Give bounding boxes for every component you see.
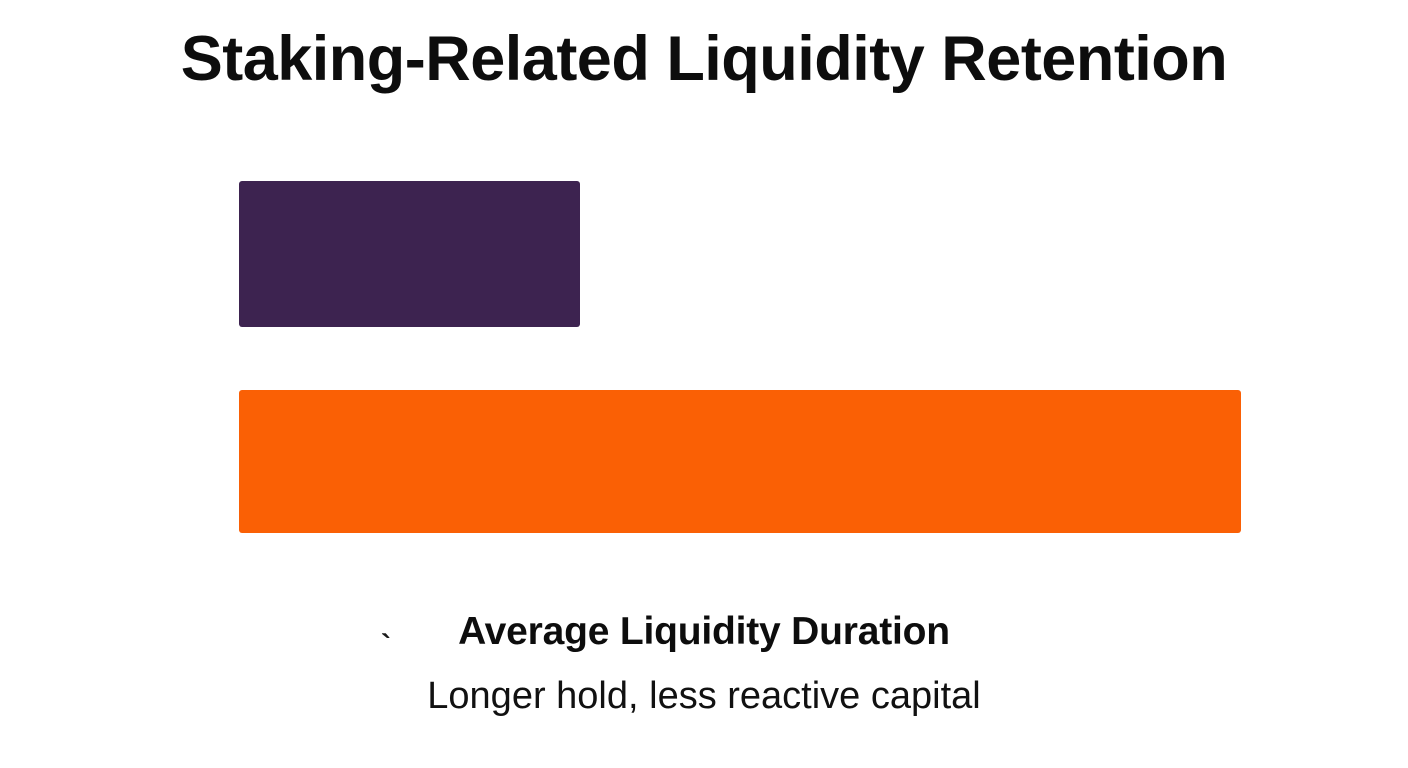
footer-block: Average Liquidity Duration Longer hold, …	[0, 612, 1408, 715]
axis-subcaption: Longer hold, less reactive capital	[0, 677, 1408, 715]
bar-30-days	[239, 181, 580, 327]
chart-root: Staking-Related Liquidity Retention 30 D…	[0, 0, 1408, 768]
bar-90-plus-days	[239, 390, 1241, 533]
axis-caption: Average Liquidity Duration	[0, 612, 1408, 651]
